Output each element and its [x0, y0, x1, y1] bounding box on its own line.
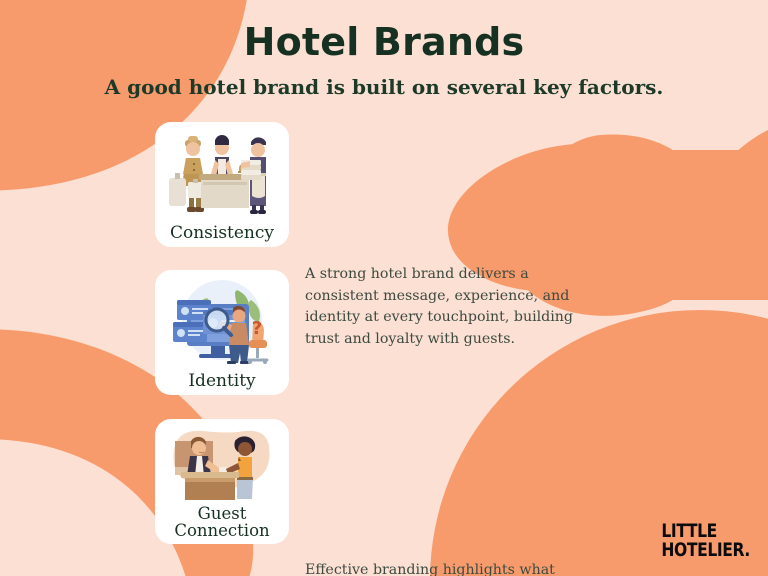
- page-title: Hotel Brands: [0, 20, 768, 64]
- question-mark-icon: ?: [252, 318, 262, 339]
- card-label-consistency: Consistency: [170, 224, 274, 242]
- icon-card-guest-connection[interactable]: Guest Connection: [155, 419, 289, 544]
- icon-card-consistency[interactable]: Consistency: [155, 122, 289, 247]
- card-body-identity: Effective branding highlights what makes…: [305, 560, 590, 576]
- card-label-identity: Identity: [188, 372, 255, 390]
- icon-card-identity[interactable]: ? Identity: [155, 270, 289, 395]
- page-subtitle: A good hotel brand is built on several k…: [0, 75, 768, 99]
- profile-card-2: [173, 322, 207, 342]
- card-body-consistency: A strong hotel brand delivers a consiste…: [305, 264, 590, 350]
- infographic-canvas: Hotel Brands A good hotel brand is built…: [0, 0, 768, 576]
- suitcase-large: [169, 178, 186, 206]
- receptionist-figure: [211, 135, 233, 179]
- card-label-guest-connection: Guest Connection: [174, 505, 269, 539]
- hotel-staff-illustration: [163, 130, 281, 222]
- reception-desk-top: [181, 472, 239, 478]
- logo-line-2: HOTELIER.: [662, 541, 750, 560]
- suitcase-small: [188, 182, 203, 198]
- profile-search-illustration: ?: [163, 278, 281, 370]
- guest-trousers: [237, 477, 253, 499]
- reception-handshake-illustration: [163, 427, 281, 503]
- key-card: [219, 467, 227, 472]
- little-hotelier-logo[interactable]: LITTLE HOTELIER.: [662, 522, 750, 560]
- trousers: [229, 345, 249, 363]
